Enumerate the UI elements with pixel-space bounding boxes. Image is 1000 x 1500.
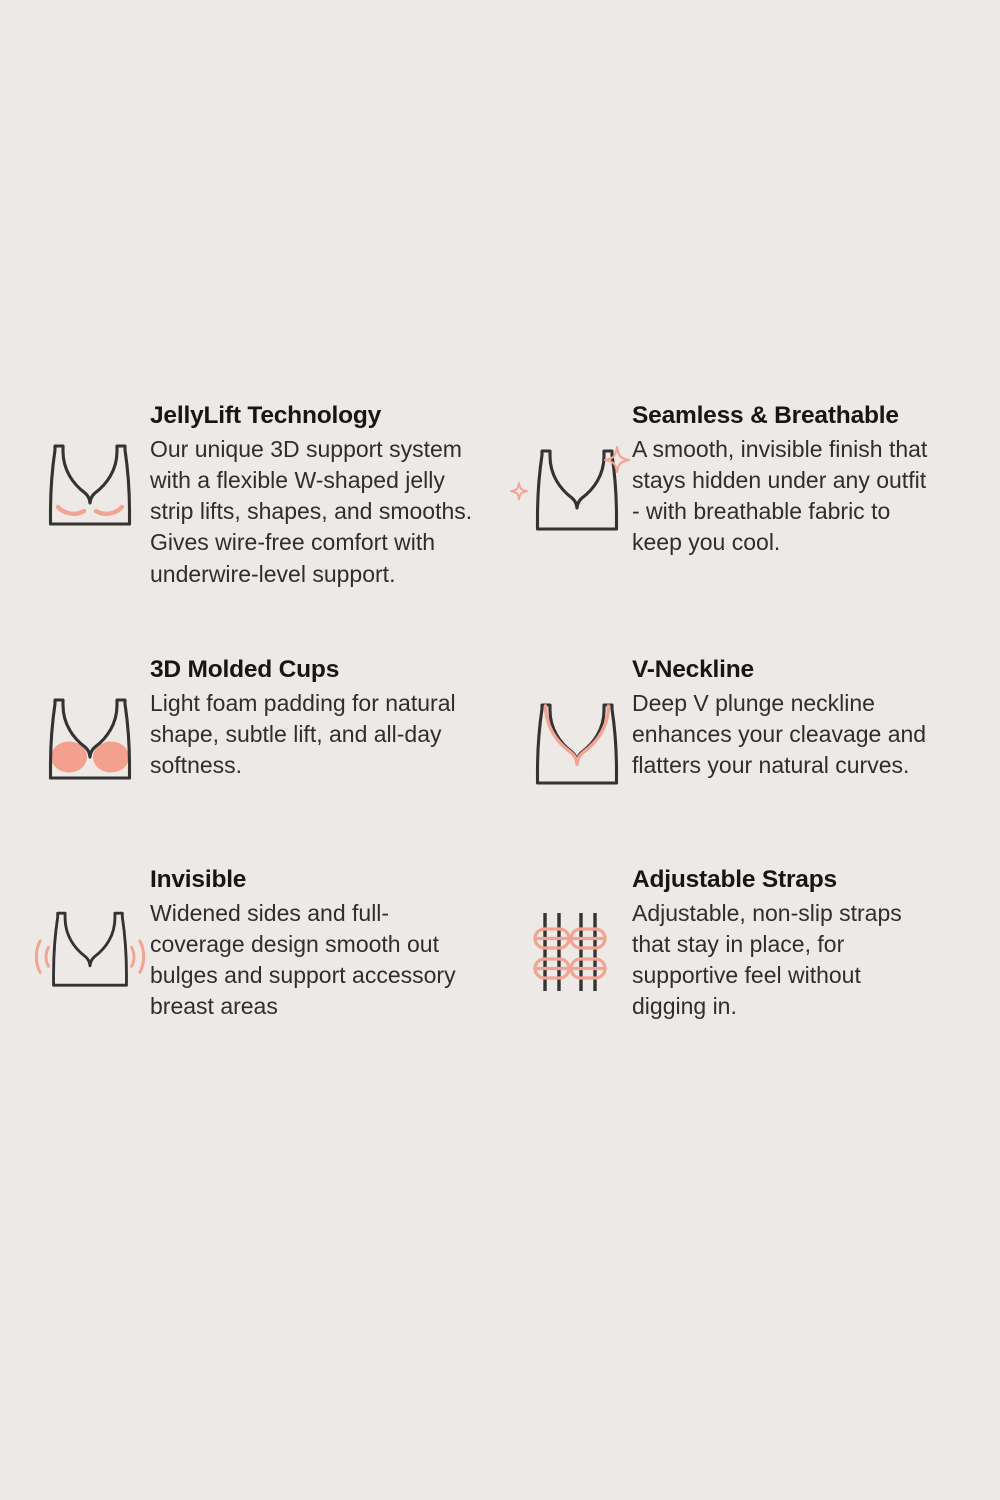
feature-text: Adjustable Straps Adjustable, non-slip s… [632,864,940,1023]
feature-description: A smooth, invisible finish that stays hi… [632,434,940,558]
feature-list-page: JellyLift Technology Our unique 3D suppo… [0,0,1000,1500]
feature-title: Adjustable Straps [632,864,940,896]
feature-item-adjustable-straps: Adjustable Straps Adjustable, non-slip s… [500,864,1000,1023]
feature-text: 3D Molded Cups Light foam padding for na… [150,654,482,781]
features-grid: JellyLift Technology Our unique 3D suppo… [0,400,1000,1022]
bra-v-neckline-icon [508,682,632,802]
bra-w-jelly-strip-icon [30,428,150,548]
bra-molded-cups-icon [30,682,150,802]
feature-title: JellyLift Technology [150,400,482,432]
feature-item-invisible: Invisible Widened sides and full-coverag… [0,864,500,1023]
feature-description: Adjustable, non-slip straps that stay in… [632,898,940,1022]
feature-item-jellylift-technology: JellyLift Technology Our unique 3D suppo… [0,400,500,590]
adjustable-straps-icon [508,892,632,1012]
feature-title: 3D Molded Cups [150,654,482,686]
feature-item-v-neckline: V-Neckline Deep V plunge neckline enhanc… [500,654,1000,802]
feature-text: V-Neckline Deep V plunge neckline enhanc… [632,654,940,781]
bra-sparkles-icon [508,428,632,548]
feature-title: Seamless & Breathable [632,400,940,432]
feature-description: Deep V plunge neckline enhances your cle… [632,688,940,781]
feature-text: Invisible Widened sides and full-coverag… [150,864,482,1023]
feature-item-seamless-breathable: Seamless & Breathable A smooth, invisibl… [500,400,1000,590]
bra-invisible-waves-icon [30,892,150,1012]
feature-title: V-Neckline [632,654,940,686]
feature-item-3d-molded-cups: 3D Molded Cups Light foam padding for na… [0,654,500,802]
feature-text: JellyLift Technology Our unique 3D suppo… [150,400,482,590]
feature-description: Light foam padding for natural shape, su… [150,688,482,781]
feature-text: Seamless & Breathable A smooth, invisibl… [632,400,940,559]
feature-description: Widened sides and full-coverage design s… [150,898,482,1022]
feature-description: Our unique 3D support system with a flex… [150,434,482,589]
feature-title: Invisible [150,864,482,896]
